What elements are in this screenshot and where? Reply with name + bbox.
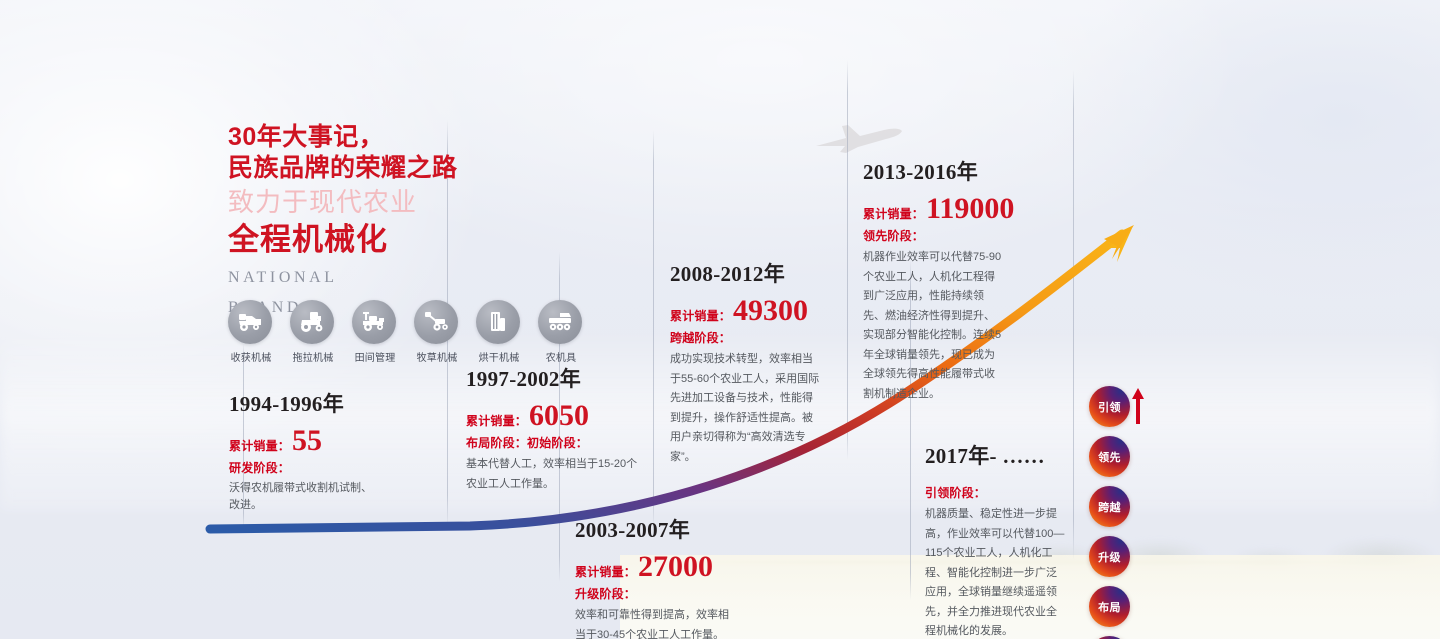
milestone-stage: 升级阶段： <box>575 585 785 602</box>
sales-value: 49300 <box>733 297 808 324</box>
headline-en-line-1: NATIONAL <box>228 267 528 288</box>
milestone-desc: 基本代替人工，效率相当于15-20个农业工人工作量。 <box>466 455 638 494</box>
category-label: 农机具 <box>538 349 584 364</box>
airplane-icon <box>812 120 904 154</box>
milestone-stage: 布局阶段：初始阶段： <box>466 434 666 451</box>
milestone-desc: 成功实现技术转型，效率相当于55-60个农业工人，采用国际先进加工设备与技术，性… <box>670 350 822 467</box>
category-label: 牧草机械 <box>414 349 460 364</box>
badge-label: 升级 <box>1098 549 1121 565</box>
milestone-2003-2007: 2003-2007年 累计销量： 27000 升级阶段： 效率和可靠性得到提高，… <box>575 514 785 639</box>
infographic-stage: 30年大事记， 民族品牌的荣耀之路 致力于现代农业 全程机械化 NATIONAL… <box>0 0 1440 639</box>
milestone-year: 1994-1996年 <box>229 388 429 418</box>
category-item-forage[interactable]: 牧草机械 <box>414 300 460 364</box>
sales-value: 27000 <box>638 553 713 580</box>
milestone-year: 2008-2012年 <box>670 258 870 288</box>
badge-label: 引领 <box>1098 399 1121 415</box>
implement-icon <box>538 300 582 344</box>
stage-badge-yinling[interactable]: 引领 <box>1089 386 1130 427</box>
category-label: 拖拉机械 <box>290 349 336 364</box>
milestone-1997-2002: 1997-2002年 累计销量： 6050 布局阶段：初始阶段： 基本代替人工，… <box>466 363 666 494</box>
category-label: 田间管理 <box>352 349 398 364</box>
stage-badge-shengji[interactable]: 升级 <box>1089 536 1130 577</box>
stage-badge-kuayue[interactable]: 跨越 <box>1089 486 1130 527</box>
stage-badge-column: 引领 领先 跨越 升级 布局 研发 <box>1089 386 1130 639</box>
grain-dryer-icon <box>476 300 520 344</box>
forage-machine-icon <box>414 300 458 344</box>
sales-value: 6050 <box>529 402 589 429</box>
milestone-sales: 累计销量： 6050 <box>466 402 666 429</box>
sales-value: 119000 <box>926 195 1014 222</box>
stage-badge-lingxian[interactable]: 领先 <box>1089 436 1130 477</box>
category-label: 烘干机械 <box>476 349 522 364</box>
category-item-field-management[interactable]: 田间管理 <box>352 300 398 364</box>
milestone-stage: 研发阶段： <box>229 459 429 476</box>
milestone-desc: 机器质量、稳定性进一步提高，作业效率可以代替100—115个农业工人，人机化工程… <box>925 505 1066 639</box>
milestone-stage: 领先阶段： <box>863 227 1063 244</box>
milestone-year: 1997-2002年 <box>466 363 666 393</box>
badge-label: 布局 <box>1098 599 1121 615</box>
badge-label: 领先 <box>1098 449 1121 465</box>
headline-line-3: 致力于现代农业 <box>228 186 528 220</box>
sales-value: 55 <box>292 427 322 454</box>
milestone-2008-2012: 2008-2012年 累计销量： 49300 跨越阶段： 成功实现技术转型，效率… <box>670 258 870 467</box>
sales-label: 累计销量： <box>575 563 636 580</box>
milestone-year: 2013-2016年 <box>863 156 1063 186</box>
milestone-sales: 累计销量： 119000 <box>863 195 1063 222</box>
category-item-dryer[interactable]: 烘干机械 <box>476 300 522 364</box>
headline-block: 30年大事记， 民族品牌的荣耀之路 致力于现代农业 全程机械化 NATIONAL… <box>228 122 528 319</box>
sales-label: 累计销量： <box>670 307 731 324</box>
category-item-implement[interactable]: 农机具 <box>538 300 584 364</box>
milestone-sales: 累计销量： 49300 <box>670 297 870 324</box>
tractor-icon <box>290 300 334 344</box>
up-arrow-icon <box>1131 388 1145 424</box>
milestone-desc: 机器作业效率可以代替75-90个农业工人，人机化工程得到广泛应用，性能持续领先、… <box>863 248 1003 405</box>
stage-badge-buju[interactable]: 布局 <box>1089 586 1130 627</box>
sales-label: 累计销量： <box>229 437 290 454</box>
milestone-desc: 沃得农机履带式收割机试制、改进。 <box>229 480 379 513</box>
milestone-sales: 累计销量： 27000 <box>575 553 785 580</box>
category-item-tractor[interactable]: 拖拉机械 <box>290 300 336 364</box>
headline-line-4: 全程机械化 <box>228 221 528 258</box>
milestone-2013-2016: 2013-2016年 累计销量： 119000 领先阶段： 机器作业效率可以代替… <box>863 156 1063 405</box>
category-label: 收获机械 <box>228 349 274 364</box>
combine-harvester-icon <box>228 300 272 344</box>
milestone-stage: 跨越阶段： <box>670 329 870 346</box>
milestone-sales: 累计销量： 55 <box>229 427 429 454</box>
category-icon-row: 收获机械 拖拉机械 田间管理 <box>228 300 584 364</box>
milestone-year: 2003-2007年 <box>575 514 785 544</box>
headline-line-1: 30年大事记， <box>228 122 528 153</box>
field-management-icon <box>352 300 396 344</box>
sales-label: 累计销量： <box>863 205 924 222</box>
milestone-1994-1996: 1994-1996年 累计销量： 55 研发阶段： 沃得农机履带式收割机试制、改… <box>229 388 429 513</box>
category-item-harvester[interactable]: 收获机械 <box>228 300 274 364</box>
badge-label: 跨越 <box>1098 499 1121 515</box>
sales-label: 累计销量： <box>466 412 527 429</box>
headline-line-2: 民族品牌的荣耀之路 <box>228 153 528 184</box>
milestone-desc: 效率和可靠性得到提高，效率相当于30-45个农业工人工作量。 <box>575 606 735 639</box>
